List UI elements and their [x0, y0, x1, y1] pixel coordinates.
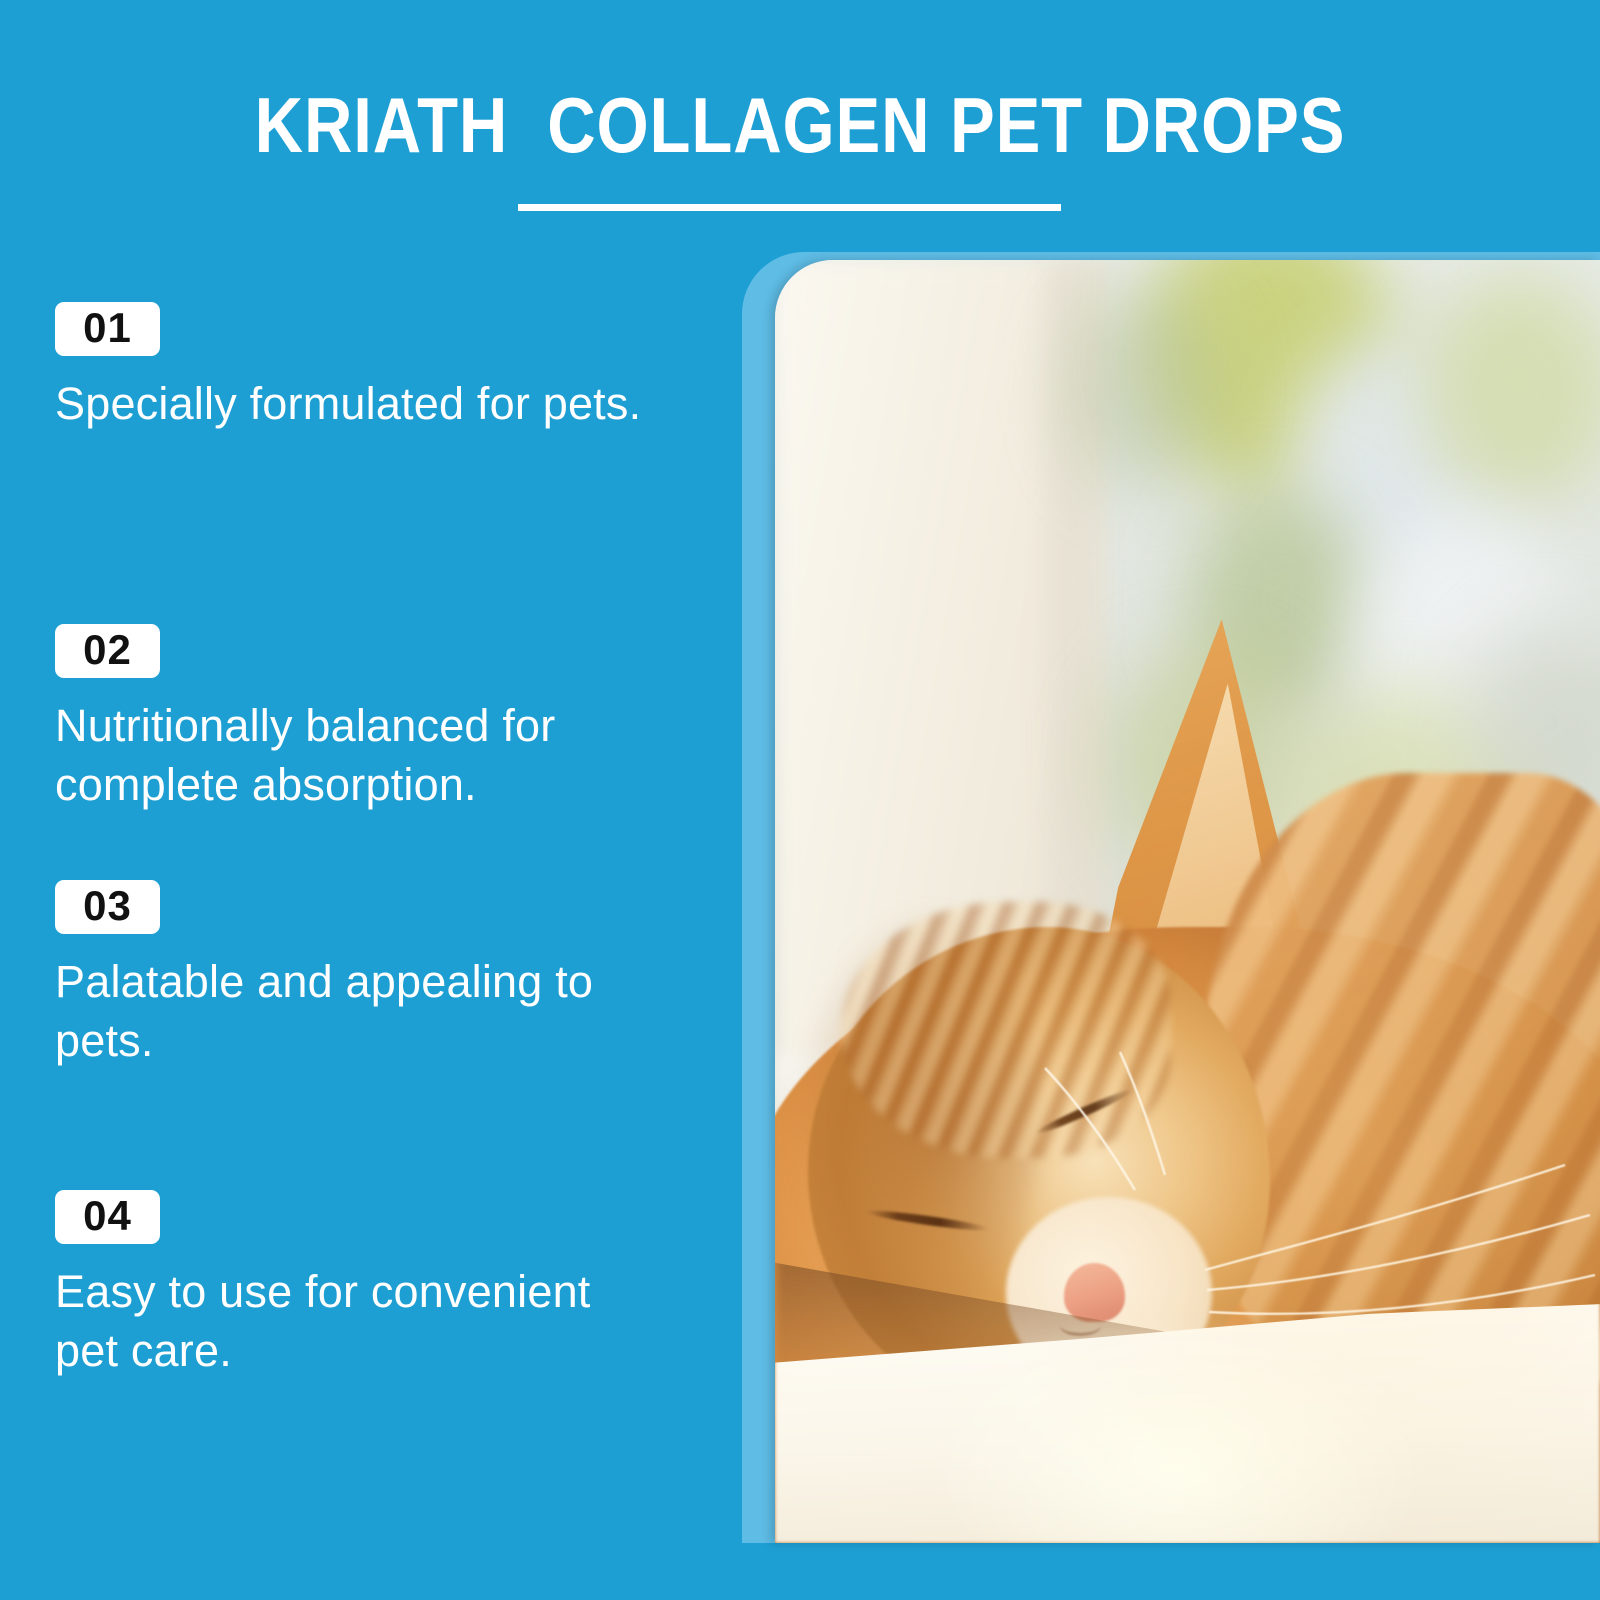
title-block: KRIATH COLLAGEN PET DROPS: [0, 86, 1600, 164]
feature-number-badge-04: 04: [55, 1190, 160, 1244]
feature-item-04: 04 Easy to use for convenient pet care.: [55, 1190, 695, 1381]
product-hero-photo: [775, 260, 1600, 1543]
feature-item-01: 01 Specially formulated for pets.: [55, 302, 695, 433]
feature-item-02: 02 Nutritionally balanced for complete a…: [55, 624, 695, 815]
title-underline-rule: [518, 204, 1061, 211]
bokeh-foliage-6: [1072, 286, 1221, 491]
feature-number-badge-02: 02: [55, 624, 160, 678]
feature-text-02: Nutritionally balanced for complete abso…: [55, 696, 655, 815]
cat-body-stripes: [1204, 773, 1600, 1389]
feature-text-01: Specially formulated for pets.: [55, 374, 655, 433]
photo-illustration: [775, 260, 1600, 1543]
cat-forehead-stripes: [841, 902, 1171, 1159]
feature-text-04: Easy to use for convenient pet care.: [55, 1262, 655, 1381]
feature-number-badge-03: 03: [55, 880, 160, 934]
feature-number-badge-01: 01: [55, 302, 160, 356]
feature-text-03: Palatable and appealing to pets.: [55, 952, 655, 1071]
sunlight-glow: [924, 1312, 1436, 1543]
product-infographic-poster: KRIATH COLLAGEN PET DROPS 01 Specially f…: [0, 0, 1600, 1600]
feature-item-03: 03 Palatable and appealing to pets.: [55, 880, 695, 1071]
page-title: KRIATH COLLAGEN PET DROPS: [112, 86, 1488, 164]
